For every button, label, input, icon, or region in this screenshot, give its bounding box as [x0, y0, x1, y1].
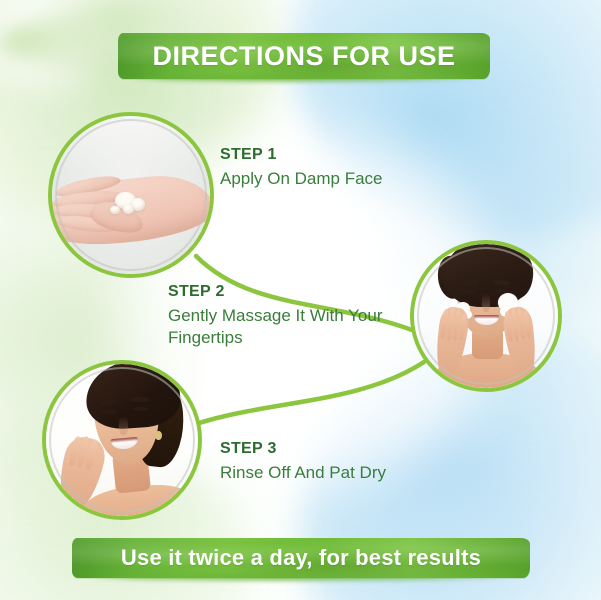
earring	[155, 431, 161, 440]
banner-footer-text: Use it twice a day, for best results	[121, 545, 481, 571]
product-blob	[123, 204, 134, 213]
woman-massaging-face-image	[414, 244, 558, 388]
step-1-title: STEP 1	[220, 146, 460, 164]
hand-illustration	[52, 116, 210, 274]
woman-clean-face-illustration	[46, 364, 198, 516]
step-3-image-circle	[42, 360, 202, 520]
eye-right	[133, 407, 148, 412]
use-twice-a-day-banner: Use it twice a day, for best results	[72, 538, 530, 578]
eye-left	[463, 289, 477, 293]
step-1-text-block: STEP 1 Apply On Damp Face	[220, 146, 460, 190]
directions-for-use-banner: DIRECTIONS FOR USE	[118, 33, 490, 79]
image-sheen-overlay	[52, 116, 210, 173]
banner-title-text: DIRECTIONS FOR USE	[152, 41, 455, 72]
step-3-text-block: STEP 3 Rinse Off And Pat Dry	[220, 440, 460, 484]
step-2-image-circle	[410, 240, 562, 392]
eye-left	[101, 410, 116, 415]
step-3-title: STEP 3	[220, 440, 460, 458]
step-1-description: Apply On Damp Face	[220, 168, 460, 190]
hand-with-product-image	[52, 116, 210, 274]
product-blob	[110, 206, 119, 214]
step-2-text-block: STEP 2 Gently Massage It With Your Finge…	[168, 283, 408, 350]
connector-circle2-to-circle3	[196, 362, 424, 424]
step-1-image-circle	[48, 112, 214, 278]
nose-shape	[119, 416, 128, 436]
infographic-root: DIRECTIONS FOR USE	[0, 0, 601, 600]
step-2-description: Gently Massage It With Your Fingertips	[168, 305, 408, 350]
step-2-title: STEP 2	[168, 283, 408, 301]
woman-massaging-illustration	[414, 244, 558, 388]
step-3-description: Rinse Off And Pat Dry	[220, 462, 460, 484]
woman-clean-face-image	[46, 364, 198, 516]
nose-shape	[482, 294, 491, 311]
